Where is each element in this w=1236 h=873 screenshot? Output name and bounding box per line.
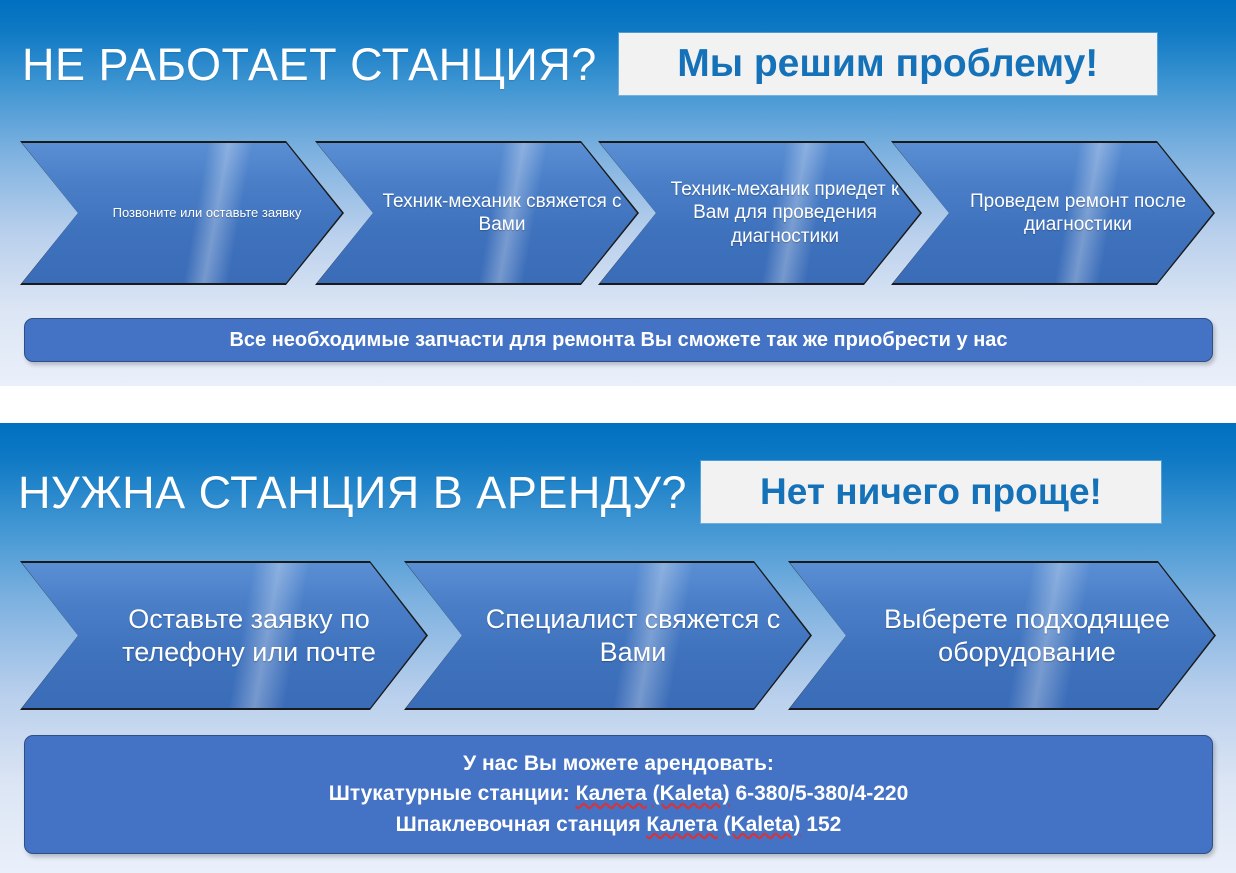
service-step-3-label: Техник-механик приедет к Вам для проведе…	[600, 178, 920, 248]
rental-line2-prefix: Штукатурные станции:	[329, 782, 576, 805]
rental-line2-brand-en: (Kaleta)	[653, 782, 730, 805]
rental-step-2-label: Специалист свяжется с Вами	[406, 603, 810, 669]
rental-offer-line-1: У нас Вы можете арендовать:	[463, 749, 774, 779]
service-step-4: Проведем ремонт после диагностики	[893, 143, 1213, 283]
section-rental-callout: Нет ничего проще!	[701, 461, 1161, 523]
chevron-shape: Техник-механик приедет к Вам для проведе…	[600, 143, 920, 283]
rental-offer-line-2: Штукатурные станции: Калета (Kaleta) 6-3…	[329, 779, 909, 809]
chevron-shape: Проведем ремонт после диагностики	[893, 143, 1213, 283]
rental-step-1-label: Оставьте заявку по телефону или почте	[22, 603, 426, 669]
service-step-1: Позвоните или оставьте заявку	[22, 143, 342, 283]
rental-steps-flow: Оставьте заявку по телефону или почте Сп…	[0, 563, 1236, 708]
rental-line2-suffix: 6-380/5-380/4-220	[730, 782, 909, 805]
chevron-shape: Выберете подходящее оборудование	[790, 563, 1214, 708]
section-service-header: НЕ РАБОТАЕТ СТАНЦИЯ? Мы решим проблему!	[0, 24, 1236, 104]
rental-title: НУЖНА СТАНЦИЯ В АРЕНДУ?	[18, 470, 687, 515]
service-step-2: Техник-механик свяжется с Вами	[317, 143, 637, 283]
service-step-1-label: Позвоните или оставьте заявку	[51, 205, 314, 221]
rental-step-2: Специалист свяжется с Вами	[406, 563, 810, 708]
rental-step-3-label: Выберете подходящее оборудование	[790, 603, 1214, 669]
chevron-shape: Специалист свяжется с Вами	[406, 563, 810, 708]
service-step-2-label: Техник-механик свяжется с Вами	[317, 190, 637, 236]
section-rental-header: НУЖНА СТАНЦИЯ В АРЕНДУ? Нет ничего проще…	[0, 452, 1236, 532]
service-parts-banner: Все необходимые запчасти для ремонта Вы …	[24, 318, 1213, 362]
section-service-callout: Мы решим проблему!	[619, 33, 1157, 95]
rental-line3-suffix: 152	[800, 813, 841, 836]
rental-offer-line-3: Шпаклевочная станция Калета (Kaleta) 152	[396, 810, 842, 840]
service-parts-banner-text: Все необходимые запчасти для ремонта Вы …	[229, 329, 1007, 352]
service-step-4-label: Проведем ремонт после диагностики	[893, 190, 1213, 236]
chevron-shape: Позвоните или оставьте заявку	[22, 143, 342, 283]
service-steps-flow: Позвоните или оставьте заявку Техник-мех…	[0, 143, 1236, 283]
rental-line3-prefix: Шпаклевочная станция	[396, 813, 647, 836]
service-step-3: Техник-механик приедет к Вам для проведе…	[600, 143, 920, 283]
rental-step-3: Выберете подходящее оборудование	[790, 563, 1214, 708]
chevron-shape: Оставьте заявку по телефону или почте	[22, 563, 426, 708]
rental-step-1: Оставьте заявку по телефону или почте	[22, 563, 426, 708]
chevron-shape: Техник-механик свяжется с Вами	[317, 143, 637, 283]
rental-offer-banner: У нас Вы можете арендовать: Штукатурные …	[24, 735, 1213, 854]
rental-line3-brand-ru: Калета	[646, 813, 717, 836]
page-title: НЕ РАБОТАЕТ СТАНЦИЯ?	[22, 42, 597, 87]
rental-line3-brand-en: (Kaleta)	[723, 813, 800, 836]
rental-line2-brand-ru: Калета	[576, 782, 647, 805]
infographic-page: НЕ РАБОТАЕТ СТАНЦИЯ? Мы решим проблему! …	[0, 0, 1236, 873]
